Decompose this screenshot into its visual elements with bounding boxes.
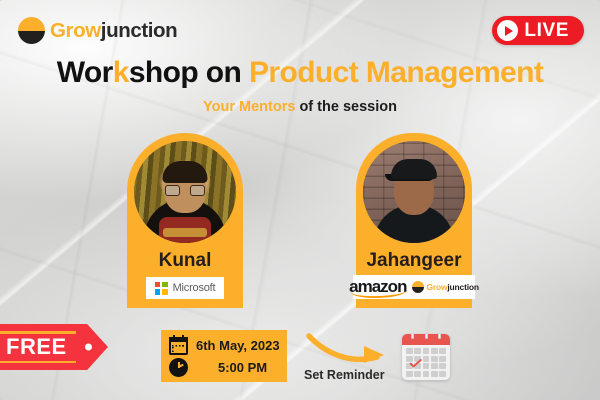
mentor-card-kunal[interactable]: Kunal Microsoft	[127, 133, 243, 308]
brand-logo[interactable]: Growjunction	[18, 17, 177, 44]
free-tag-accent-line-bottom	[0, 361, 76, 364]
poster-canvas: Growjunction LIVE Workshop on Product Ma…	[0, 0, 600, 400]
microsoft-label: Microsoft	[173, 282, 216, 294]
mentor-avatar-kunal	[134, 141, 236, 243]
microsoft-logo-icon: Microsoft	[146, 277, 224, 299]
brand-name-grow: Grow	[50, 19, 101, 42]
subtitle-rest: of the session	[295, 99, 397, 115]
headline-part-4: Product Management	[249, 56, 543, 89]
schedule-time: 5:00 PM	[218, 360, 267, 375]
amazon-swoosh-icon	[351, 290, 407, 299]
subtitle-highlight: Your Mentors	[203, 99, 295, 115]
brand-name: Growjunction	[50, 19, 177, 43]
schedule-time-row: 5:00 PM	[169, 358, 279, 377]
live-badge[interactable]: LIVE	[492, 16, 584, 45]
headline-part-2: k	[113, 56, 129, 89]
calendar-icon	[169, 336, 188, 355]
free-tag: FREE	[0, 324, 108, 370]
headline-part-1: Wor	[57, 56, 113, 89]
headline-part-3: shop on	[129, 56, 249, 89]
curved-arrow-icon	[306, 332, 392, 366]
mentor-avatar-jahangeer	[363, 141, 465, 243]
growjunction-logo-icon: Growjunction	[412, 281, 478, 293]
company-logos-jahangeer: amazon Growjunction	[353, 275, 475, 299]
brand-name-junction: junction	[101, 19, 178, 42]
growjunction-circle-logo-icon	[18, 17, 45, 44]
set-reminder-label: Set Reminder	[304, 368, 385, 382]
free-tag-label: FREE	[6, 336, 67, 358]
microsoft-squares-icon	[155, 282, 168, 295]
page-title: Workshop on Product Management	[0, 56, 600, 90]
set-reminder-group[interactable]: Set Reminder	[300, 330, 450, 386]
mentor-card-jahangeer[interactable]: Jahangeer amazon Growjunction	[356, 133, 472, 308]
clock-icon	[169, 358, 188, 377]
growjunction-circle-icon	[412, 281, 424, 293]
live-badge-label: LIVE	[524, 21, 569, 40]
free-tag-hole-icon	[85, 344, 92, 351]
mentor-name-jahangeer: Jahangeer	[356, 250, 472, 272]
mentor-name-kunal: Kunal	[127, 250, 243, 272]
mini-brand-junction: junction	[447, 282, 478, 292]
schedule-box: 6th May, 2023 5:00 PM	[161, 330, 287, 382]
calendar-check-icon[interactable]	[402, 334, 450, 380]
amazon-logo-icon: amazon	[349, 278, 406, 297]
play-circle-icon	[497, 20, 518, 41]
subtitle: Your Mentors of the session	[0, 99, 600, 115]
schedule-date-row: 6th May, 2023	[169, 336, 279, 355]
mini-brand-grow: Grow	[426, 282, 447, 292]
schedule-date: 6th May, 2023	[196, 338, 280, 353]
